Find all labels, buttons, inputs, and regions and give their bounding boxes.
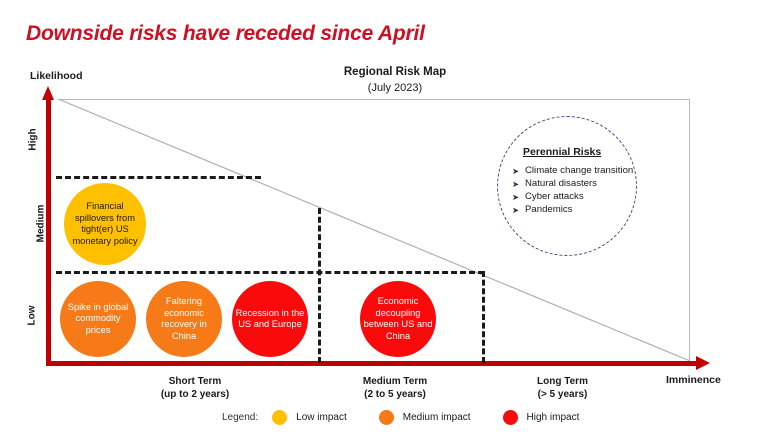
- legend-item-label: High impact: [527, 412, 580, 423]
- chart-title: Regional Risk Map: [230, 66, 560, 78]
- x-tick-short-term-range: (up to 2 years): [130, 388, 260, 401]
- perennial-risks-list: ➤ Climate change transition ➤ Natural di…: [512, 165, 634, 217]
- y-tick-high-label: High: [28, 128, 39, 150]
- list-item: ➤ Climate change transition: [512, 165, 634, 177]
- perennial-risks-title: Perennial Risks: [523, 146, 601, 158]
- list-item-label: Cyber attacks: [525, 191, 634, 203]
- guide-line-medium-long-term: [482, 271, 485, 363]
- risk-bubble-financial-spillovers[interactable]: Financial spillovers from tight(er) US m…: [64, 183, 146, 265]
- risk-bubble-label: Financial spillovers from tight(er) US m…: [66, 201, 144, 247]
- guide-line-low-medium: [56, 271, 484, 274]
- guide-line-medium-high: [56, 176, 261, 179]
- risk-map-slide: Downside risks have receded since April …: [0, 0, 768, 447]
- x-tick-long-term: Long Term (> 5 years): [505, 375, 620, 401]
- y-axis-title: Likelihood: [30, 70, 83, 82]
- x-tick-short-term: Short Term (up to 2 years): [130, 375, 260, 401]
- risk-bubble-china-recovery[interactable]: Faltering economic recovery in China: [146, 281, 222, 357]
- risk-bubble-recession[interactable]: Recession in the US and Europe: [232, 281, 308, 357]
- legend-item-medium-impact: Medium impact: [379, 410, 471, 425]
- x-tick-medium-term: Medium Term (2 to 5 years): [330, 375, 460, 401]
- y-tick-medium: Medium: [22, 218, 42, 229]
- list-item-label: Natural disasters: [525, 178, 634, 190]
- legend-item-label: Low impact: [296, 412, 347, 423]
- slide-headline: Downside risks have receded since April: [26, 22, 425, 46]
- legend-swatch-high-impact: [503, 410, 518, 425]
- x-axis-line: [46, 361, 698, 366]
- y-tick-high: High: [22, 134, 42, 145]
- legend-swatch-low-impact: [272, 410, 287, 425]
- chart-subtitle: (July 2023): [230, 82, 560, 94]
- list-item: ➤ Natural disasters: [512, 178, 634, 190]
- x-axis-arrow-icon: [696, 356, 710, 370]
- risk-bubble-label: Faltering economic recovery in China: [148, 296, 220, 342]
- arrow-bullet-icon: ➤: [512, 165, 525, 177]
- x-tick-short-term-name: Short Term: [130, 375, 260, 388]
- list-item-label: Pandemics: [525, 204, 634, 216]
- legend-label: Legend:: [222, 412, 258, 423]
- risk-bubble-label: Spike in global commodity prices: [62, 302, 134, 337]
- risk-bubble-economic-decoupling[interactable]: Economic decoupling between US and China: [360, 281, 436, 357]
- list-item-label: Climate change transition: [525, 165, 634, 177]
- legend-swatch-medium-impact: [379, 410, 394, 425]
- legend: Legend: Low impact Medium impact High im…: [222, 410, 611, 425]
- y-tick-low-label: Low: [27, 306, 38, 326]
- legend-item-high-impact: High impact: [503, 410, 580, 425]
- x-axis-title: Imminence: [666, 374, 721, 386]
- y-axis-line: [46, 98, 51, 364]
- list-item: ➤ Cyber attacks: [512, 191, 634, 203]
- y-tick-low: Low: [22, 310, 42, 321]
- risk-bubble-commodity-prices[interactable]: Spike in global commodity prices: [60, 281, 136, 357]
- y-axis-arrow-icon: [42, 86, 54, 100]
- list-item: ➤ Pandemics: [512, 204, 634, 216]
- legend-item-low-impact: Low impact: [272, 410, 347, 425]
- arrow-bullet-icon: ➤: [512, 178, 525, 190]
- y-tick-medium-label: Medium: [35, 205, 46, 243]
- risk-bubble-label: Recession in the US and Europe: [234, 308, 306, 331]
- x-tick-long-term-range: (> 5 years): [505, 388, 620, 401]
- arrow-bullet-icon: ➤: [512, 191, 525, 203]
- x-tick-medium-term-range: (2 to 5 years): [330, 388, 460, 401]
- guide-line-short-medium-term: [318, 208, 321, 363]
- x-tick-medium-term-name: Medium Term: [330, 375, 460, 388]
- risk-bubble-label: Economic decoupling between US and China: [362, 296, 434, 342]
- legend-item-label: Medium impact: [403, 412, 471, 423]
- arrow-bullet-icon: ➤: [512, 204, 525, 216]
- x-tick-long-term-name: Long Term: [505, 375, 620, 388]
